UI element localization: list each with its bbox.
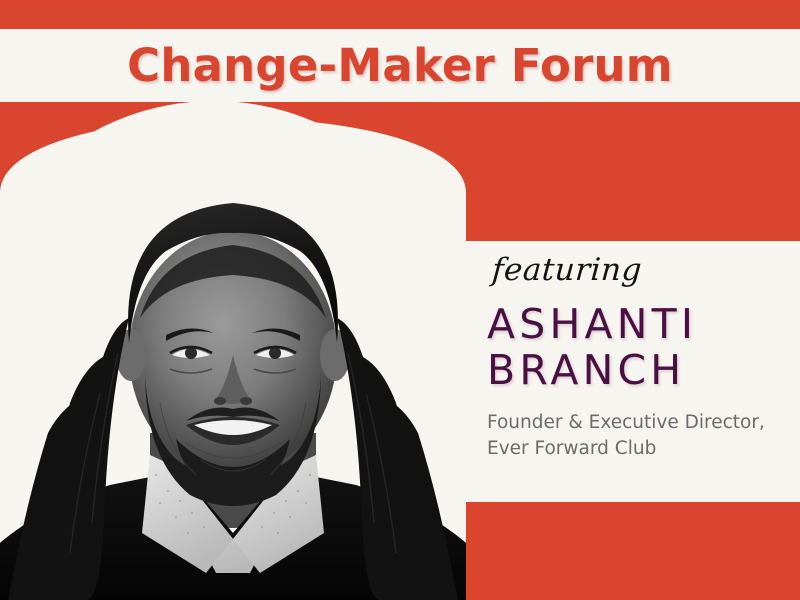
top-red-band (0, 0, 800, 29)
portrait-photo-graphic (0, 103, 466, 600)
page-title: Change-Maker Forum (127, 43, 673, 88)
event-promo-poster: Change-Maker Forum (0, 0, 800, 600)
speaker-info-column: featuring ASHANTI BRANCH Founder & Execu… (487, 255, 787, 462)
speaker-last-name: BRANCH (487, 348, 787, 394)
speaker-first-name: ASHANTI (487, 302, 787, 348)
featuring-label: featuring (491, 255, 789, 286)
speaker-role-line-1: Founder & Executive Director, (487, 410, 787, 436)
portrait-photo-speaker (0, 103, 466, 600)
speaker-name: ASHANTI BRANCH (487, 302, 787, 394)
speaker-role-line-2: Ever Forward Club (487, 436, 787, 462)
speaker-role: Founder & Executive Director, Ever Forwa… (487, 410, 787, 463)
bottom-right-red-block (465, 502, 800, 600)
title-bar: Change-Maker Forum (0, 29, 800, 102)
